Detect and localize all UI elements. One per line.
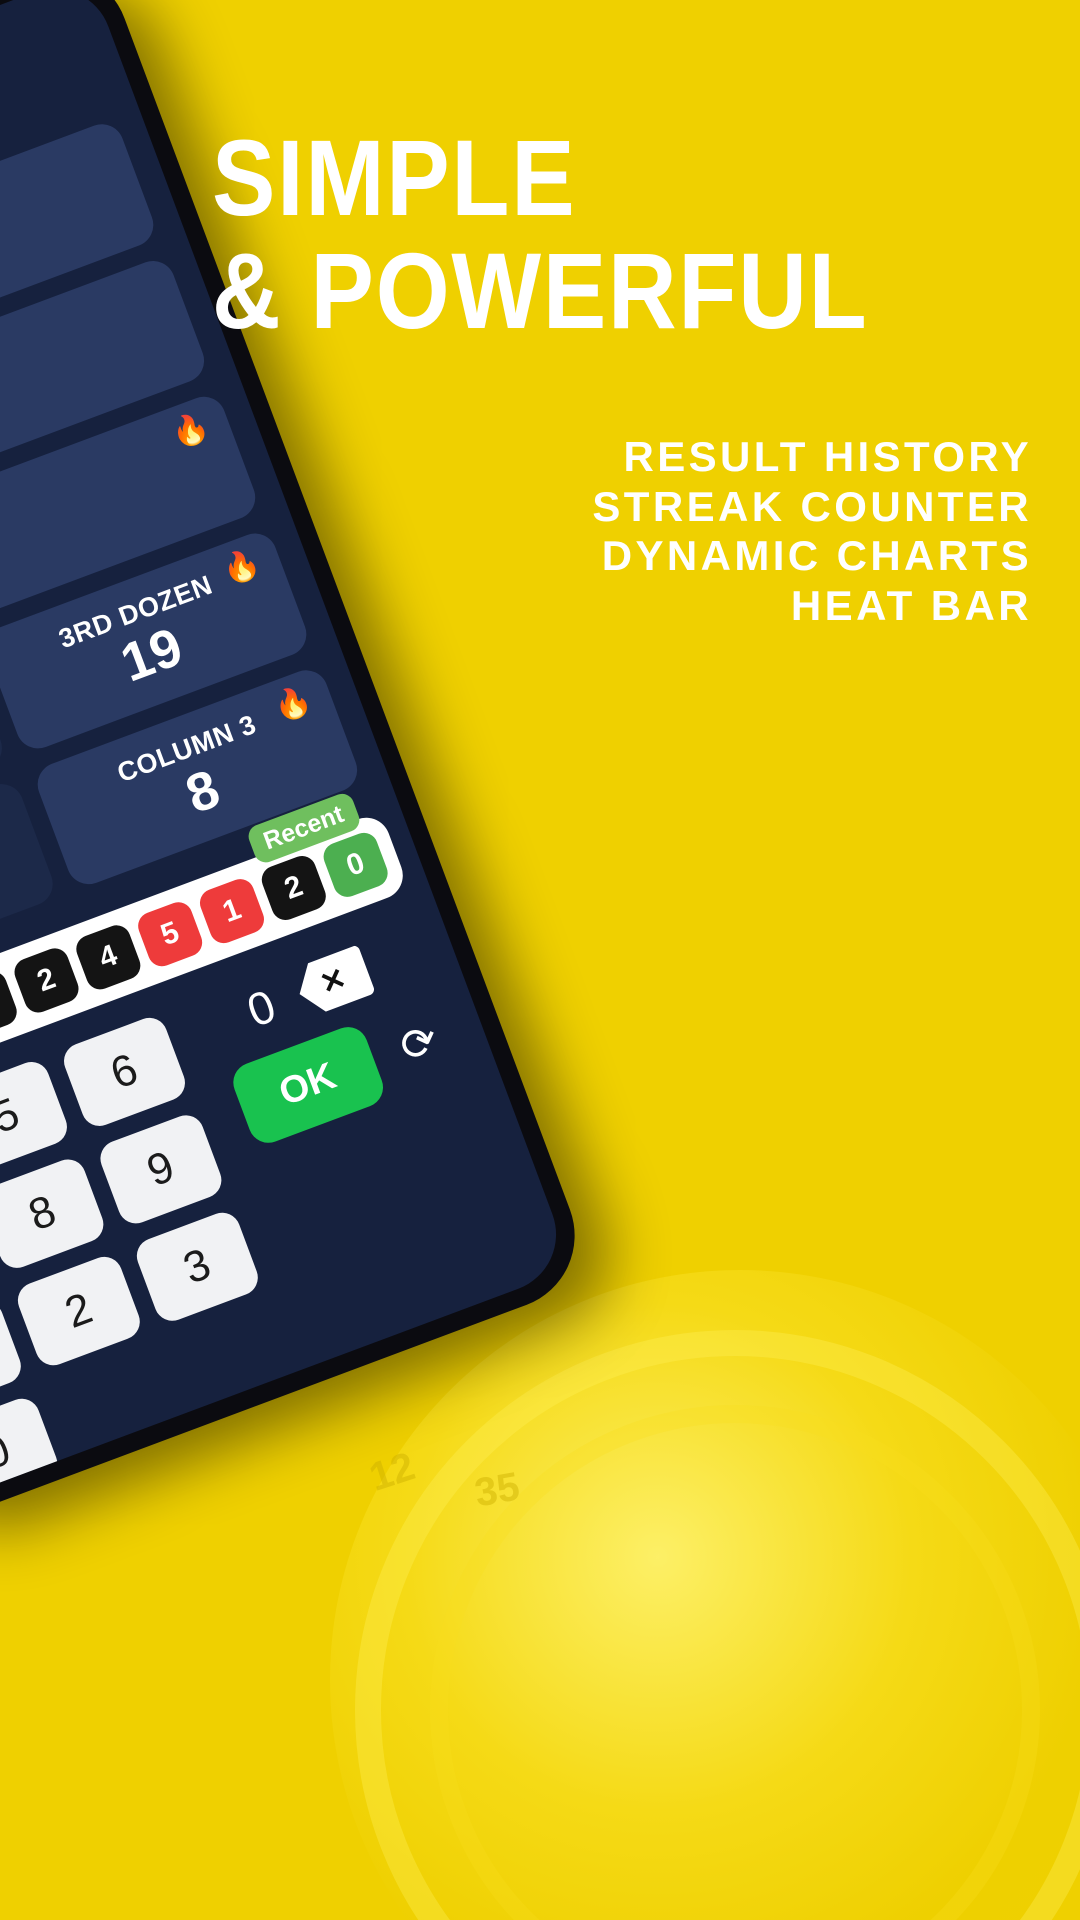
keypad-key[interactable]: 6 xyxy=(59,1013,191,1131)
wheel-number: 35 xyxy=(471,1464,523,1516)
flame-icon: 🔥 xyxy=(270,684,315,725)
keypad-key[interactable]: 5 xyxy=(0,1057,72,1175)
backspace-icon[interactable]: ✕ xyxy=(291,945,377,1019)
flame-icon: 🔥 xyxy=(168,411,213,452)
stat-value: 8 xyxy=(179,760,227,824)
headline: SIMPLE & POWERFUL xyxy=(212,128,1062,341)
wheel-number: 12 xyxy=(364,1444,420,1501)
keypad-key[interactable]: 8 xyxy=(0,1155,108,1273)
headline-line-2: & POWERFUL xyxy=(212,241,960,340)
history-chip[interactable]: 1 xyxy=(196,875,268,947)
history-chip[interactable]: 4 xyxy=(72,922,144,994)
keypad-display-value: 0 xyxy=(240,979,283,1039)
roulette-wheel-glow xyxy=(330,1270,1080,1920)
ok-button[interactable]: OK xyxy=(227,1022,388,1149)
roulette-wheel-outer-ring xyxy=(355,1330,1080,1920)
refresh-icon[interactable]: ⟳ xyxy=(394,1017,444,1071)
keypad-key[interactable]: 2 xyxy=(13,1252,145,1370)
history-chip[interactable]: 0 xyxy=(320,829,392,901)
keypad-key[interactable]: 3 xyxy=(132,1208,264,1326)
feature-item-dynamic-charts: DYNAMIC CHARTS xyxy=(592,531,1032,581)
feature-item-heat-bar: HEAT BAR xyxy=(592,581,1032,631)
headline-line-1: SIMPLE xyxy=(212,128,960,227)
keypad-key[interactable]: 0 xyxy=(0,1394,63,1508)
feature-list: RESULT HISTORY STREAK COUNTER DYNAMIC CH… xyxy=(592,432,1032,630)
history-chip[interactable]: 2 xyxy=(258,852,330,924)
feature-item-result-history: RESULT HISTORY xyxy=(592,432,1032,482)
history-chip[interactable]: 2 xyxy=(11,945,83,1017)
feature-item-streak-counter: STREAK COUNTER xyxy=(592,482,1032,532)
roulette-wheel-inner-ring xyxy=(430,1405,1040,1920)
roulette-wheel-numbers: 12 35 xyxy=(360,1380,1080,1680)
keypad-key[interactable]: 9 xyxy=(95,1111,227,1229)
flame-icon-red: 🔥 xyxy=(219,547,264,588)
history-chip[interactable]: 5 xyxy=(134,899,206,971)
